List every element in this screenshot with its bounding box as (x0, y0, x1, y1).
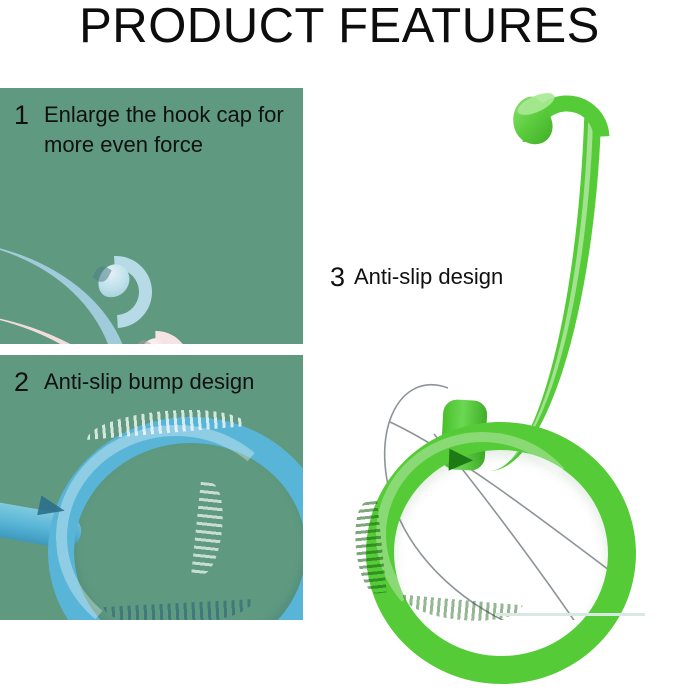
feature-1-caption: 1Enlarge the hook cap for more even forc… (14, 100, 294, 160)
feature-1-number: 1 (14, 100, 44, 130)
feature-panel-2: 2Anti-slip bump design (0, 355, 303, 620)
feature-1-text: Enlarge the hook cap for more even force (44, 100, 288, 160)
feature-3-number: 3 (330, 262, 354, 292)
feature-2-number: 2 (14, 367, 44, 397)
feature-2-caption: 2Anti-slip bump design (14, 367, 294, 397)
feature-panel-3: 3Anti-slip design (330, 70, 679, 620)
feature-panel-1: 1Enlarge the hook cap for more even forc… (0, 88, 303, 344)
page-title: PRODUCT FEATURES (0, 0, 679, 60)
feature-3-caption: 3Anti-slip design (330, 262, 503, 292)
feature-3-text: Anti-slip design (354, 262, 503, 292)
feature-2-text: Anti-slip bump design (44, 367, 288, 397)
bottom-surface-line (495, 613, 645, 616)
